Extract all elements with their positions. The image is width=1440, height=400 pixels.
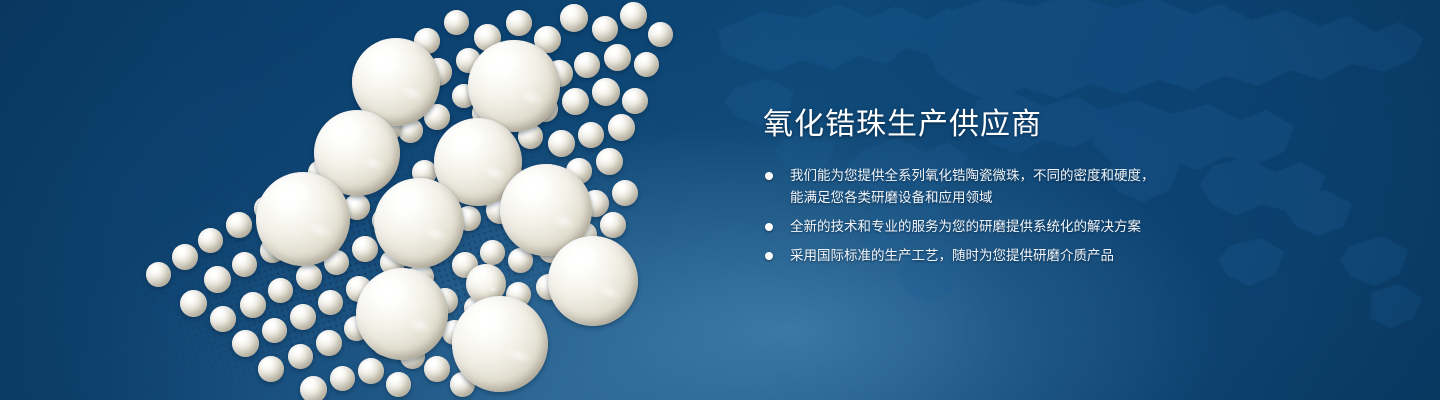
list-item-line: 采用国际标准的生产工艺，随时为您提供研磨介质产品 [790,245,1233,267]
list-item: 全新的技术和专业的服务为您的研磨提供系统化的解决方案 [763,216,1233,238]
bullet-dot-icon [765,223,773,231]
feature-list: 我们能为您提供全系列氧化锆陶瓷微珠，不同的密度和硬度， 能满足您各类研磨设备和应… [763,165,1233,267]
list-item: 我们能为您提供全系列氧化锆陶瓷微珠，不同的密度和硬度， 能满足您各类研磨设备和应… [763,165,1233,209]
list-item-line: 全新的技术和专业的服务为您的研磨提供系统化的解决方案 [790,216,1233,238]
page-title: 氧化锆珠生产供应商 [763,106,1233,144]
banner-copy: 氧化锆珠生产供应商 我们能为您提供全系列氧化锆陶瓷微珠，不同的密度和硬度， 能满… [763,106,1233,267]
bullet-dot-icon [765,252,773,260]
list-item: 采用国际标准的生产工艺，随时为您提供研磨介质产品 [763,245,1233,267]
hero-banner: 氧化锆珠生产供应商 我们能为您提供全系列氧化锆陶瓷微珠，不同的密度和硬度， 能满… [0,0,1440,400]
list-item-line: 我们能为您提供全系列氧化锆陶瓷微珠，不同的密度和硬度， [790,165,1233,187]
zirconia-beads-photo [0,0,760,400]
bullet-dot-icon [765,172,773,180]
list-item-line: 能满足您各类研磨设备和应用领域 [790,187,1233,209]
